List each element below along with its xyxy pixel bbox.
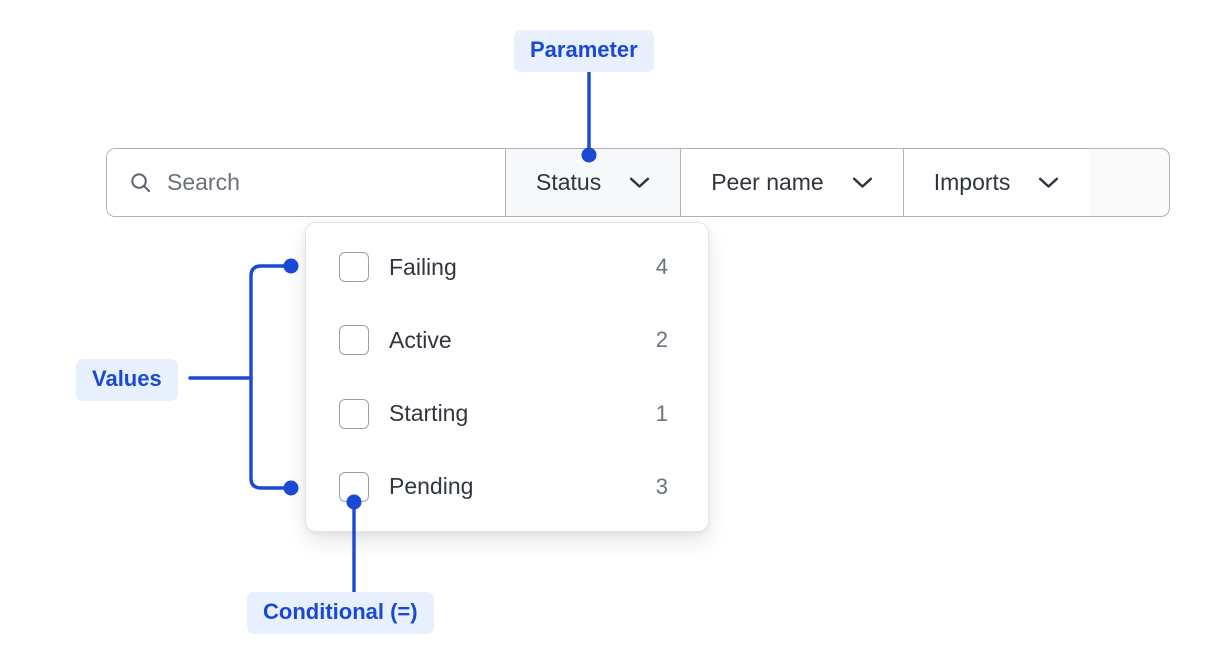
connector-values-bottom	[251, 378, 289, 488]
connector-values-top	[251, 266, 289, 378]
filter-label-peer-name: Peer name	[711, 171, 824, 194]
connector-dot-values-bottom	[284, 481, 299, 496]
option-count-failing: 4	[652, 256, 668, 278]
status-filter-dropdown: Failing 4 Active 2 Starting 1 Pending 3	[305, 222, 709, 532]
list-item[interactable]: Failing 4	[306, 245, 708, 289]
filter-label-imports: Imports	[934, 171, 1011, 194]
checkbox-starting[interactable]	[339, 399, 369, 429]
list-item[interactable]: Starting 1	[306, 392, 708, 436]
connector-dot-values-top	[284, 259, 299, 274]
option-label-pending: Pending	[389, 475, 652, 498]
annotation-label-conditional: Conditional (=)	[247, 592, 434, 634]
list-item[interactable]: Active 2	[306, 318, 708, 362]
option-label-active: Active	[389, 329, 652, 352]
search-field[interactable]	[107, 149, 506, 216]
filter-label-status: Status	[536, 171, 601, 194]
search-input[interactable]	[167, 169, 467, 196]
filter-button-status[interactable]: Status	[506, 149, 681, 216]
option-count-starting: 1	[652, 403, 668, 425]
option-count-active: 2	[652, 329, 668, 351]
search-icon	[129, 171, 152, 194]
option-count-pending: 3	[652, 476, 668, 498]
filter-button-imports[interactable]: Imports	[904, 149, 1090, 216]
chevron-down-icon	[1038, 176, 1059, 189]
annotation-label-parameter: Parameter	[514, 30, 654, 72]
list-item[interactable]: Pending 3	[306, 465, 708, 509]
checkbox-failing[interactable]	[339, 252, 369, 282]
filter-toolbar: Status Peer name Imports	[106, 148, 1170, 217]
screenshot-root: Status Peer name Imports Failing 4	[0, 0, 1224, 660]
chevron-down-icon	[629, 176, 650, 189]
option-label-starting: Starting	[389, 402, 652, 425]
filter-button-peer-name[interactable]: Peer name	[681, 149, 904, 216]
checkbox-pending[interactable]	[339, 472, 369, 502]
annotation-label-values: Values	[76, 359, 178, 401]
checkbox-active[interactable]	[339, 325, 369, 355]
option-label-failing: Failing	[389, 256, 652, 279]
chevron-down-icon	[852, 176, 873, 189]
